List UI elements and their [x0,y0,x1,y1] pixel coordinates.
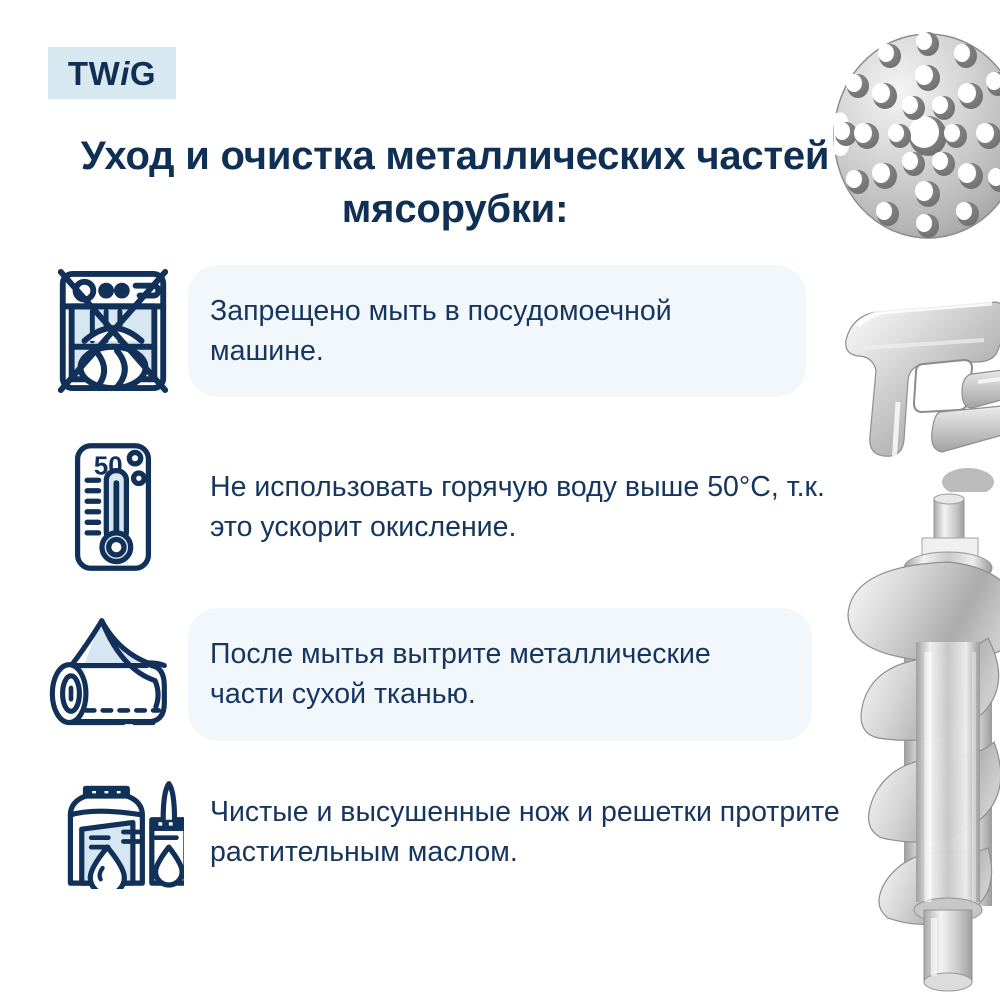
tip-card-dry-with-cloth: После мытья вытрите металлические части … [188,608,812,741]
tip-row-max-temperature: 50 Не использовать горячую воду выше 50° [38,440,868,574]
dishwasher-prohibited-icon [38,262,188,400]
logo-text-end: G [130,55,156,92]
tip-text-no-dishwasher: Запрещено мыть в посудомоечной машине. [210,291,776,372]
tip-block-max-temperature: Не использовать горячую воду выше 50°C, … [188,467,868,548]
page-title: Уход и очистка металлических частей мясо… [60,130,850,236]
rolled-cloth-icon [38,613,188,735]
tip-text-max-temperature: Не использовать горячую воду выше 50°C, … [210,467,868,548]
oil-bottles-icon [38,775,188,889]
brand-logo: TWiG [48,47,176,99]
tip-block-oil-parts: Чистые и высушенные нож и решетки протри… [188,792,878,873]
logo-text-main: TW [68,55,120,92]
tip-row-dry-with-cloth: После мытья вытрите металлические части … [38,608,853,741]
mincer-auger-screw-photo [838,492,1000,992]
tip-card-no-dishwasher: Запрещено мыть в посудомоечной машине. [188,265,806,398]
tip-row-oil-parts: Чистые и высушенные нож и решетки протри… [38,775,878,889]
mincer-cross-blade-photo [828,282,1000,492]
tip-row-no-dishwasher: Запрещено мыть в посудомоечной машине. [38,262,848,400]
thermometer-50c-icon: 50 [38,440,188,574]
mincer-grinding-plate-photo [832,22,1000,250]
tip-text-dry-with-cloth: После мытья вытрите металлические части … [210,634,782,715]
tip-text-oil-parts: Чистые и высушенные нож и решетки протри… [210,792,878,873]
logo-text-italic: i [120,55,130,92]
brand-logo-text: TWiG [68,57,156,90]
